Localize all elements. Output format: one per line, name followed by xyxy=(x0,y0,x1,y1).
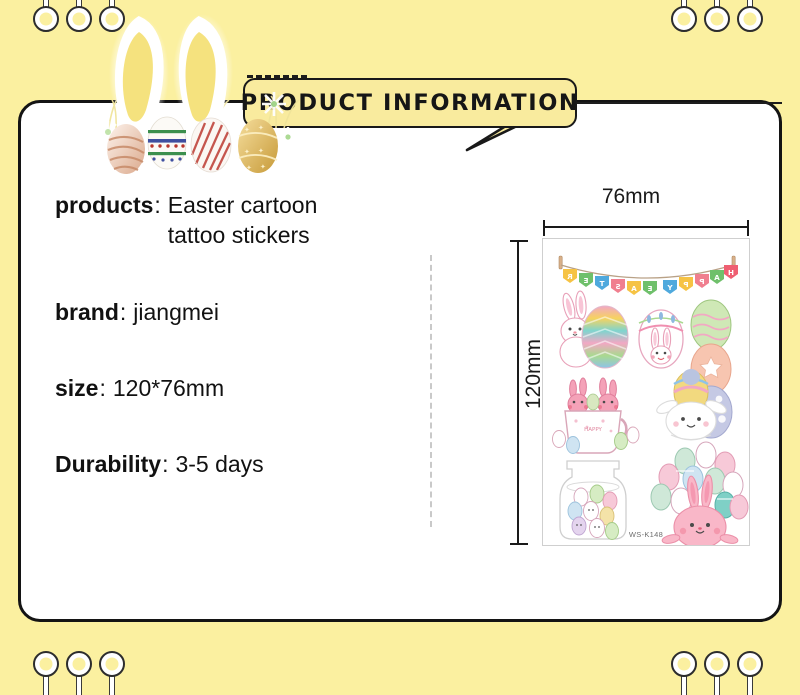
binding-ring xyxy=(671,651,697,695)
binding-ring xyxy=(33,0,59,34)
svg-text:H: H xyxy=(728,268,734,277)
page-title: PRODUCT INFORMATION xyxy=(241,90,580,116)
speech-bubble-tail xyxy=(465,124,525,152)
candy-jar-with-eggs xyxy=(560,461,626,540)
spec-colon: : xyxy=(162,449,168,479)
spec-label: brand xyxy=(55,297,119,327)
product-spec-list: products : Easter cartoon tattoo sticker… xyxy=(55,190,405,480)
svg-text:S: S xyxy=(615,282,620,291)
spec-label: size xyxy=(55,373,98,403)
binding-ring xyxy=(671,0,697,34)
spec-colon: : xyxy=(154,190,160,220)
spec-value: 120*76mm xyxy=(113,373,405,403)
svg-text:R: R xyxy=(567,272,573,281)
binding-ring xyxy=(704,651,730,695)
dimension-cap xyxy=(510,240,528,242)
dimension-cap xyxy=(543,220,545,236)
dimension-cap xyxy=(510,543,528,545)
svg-text:E: E xyxy=(647,284,652,293)
spec-row-durability: Durability : 3-5 days xyxy=(55,449,405,479)
spec-colon: : xyxy=(99,373,105,403)
sticker-artwork: R E T S xyxy=(543,239,750,546)
pink-bunnies-in-mug: HAPPY xyxy=(553,378,640,454)
binding-ring xyxy=(33,651,59,695)
title-rule xyxy=(577,102,782,104)
page-title-bubble: PRODUCT INFORMATION xyxy=(243,78,577,128)
sticker-sheet-image: R E T S xyxy=(542,238,750,546)
svg-text:HAPPY: HAPPY xyxy=(584,427,602,433)
svg-text:A: A xyxy=(714,273,720,282)
width-dimension-label: 76mm xyxy=(500,185,762,209)
svg-text:Y: Y xyxy=(667,283,674,292)
svg-text:P: P xyxy=(699,277,704,286)
binding-ring xyxy=(99,0,125,34)
height-dimension-line xyxy=(517,240,519,545)
spec-label: products xyxy=(55,190,153,220)
width-dimension-line xyxy=(543,226,749,228)
binding-ring xyxy=(704,0,730,34)
spec-row-brand: brand : jiangmei xyxy=(55,297,405,327)
spec-row-products: products : Easter cartoon tattoo sticker… xyxy=(55,190,405,251)
spec-row-size: size : 120*76mm xyxy=(55,373,405,403)
svg-text:P: P xyxy=(683,280,688,289)
binding-ring xyxy=(737,651,763,695)
spec-value: jiangmei xyxy=(133,297,405,327)
binding-ring xyxy=(66,651,92,695)
spec-value: Easter cartoon tattoo stickers xyxy=(168,190,405,251)
infographic-canvas: PRODUCT INFORMATION xyxy=(0,0,800,695)
happy-easter-bunting-banner: R E T S xyxy=(559,256,738,295)
product-code-label: WS-K148 xyxy=(543,530,749,539)
section-divider xyxy=(430,255,432,527)
svg-text:E: E xyxy=(583,276,588,285)
binding-ring xyxy=(99,651,125,695)
binding-ring xyxy=(66,0,92,34)
egg-with-bunny-face xyxy=(639,310,683,368)
product-image-panel: 76mm 120mm xyxy=(500,185,762,565)
svg-text:T: T xyxy=(599,279,604,288)
spec-label: Durability xyxy=(55,449,161,479)
spec-colon: : xyxy=(120,297,126,327)
bunny-with-chevron-egg xyxy=(560,291,628,368)
title-dash-accent xyxy=(247,75,307,78)
spec-value: 3-5 days xyxy=(175,449,405,479)
dimension-cap xyxy=(747,220,749,236)
binding-ring xyxy=(737,0,763,34)
svg-text:A: A xyxy=(631,284,637,293)
